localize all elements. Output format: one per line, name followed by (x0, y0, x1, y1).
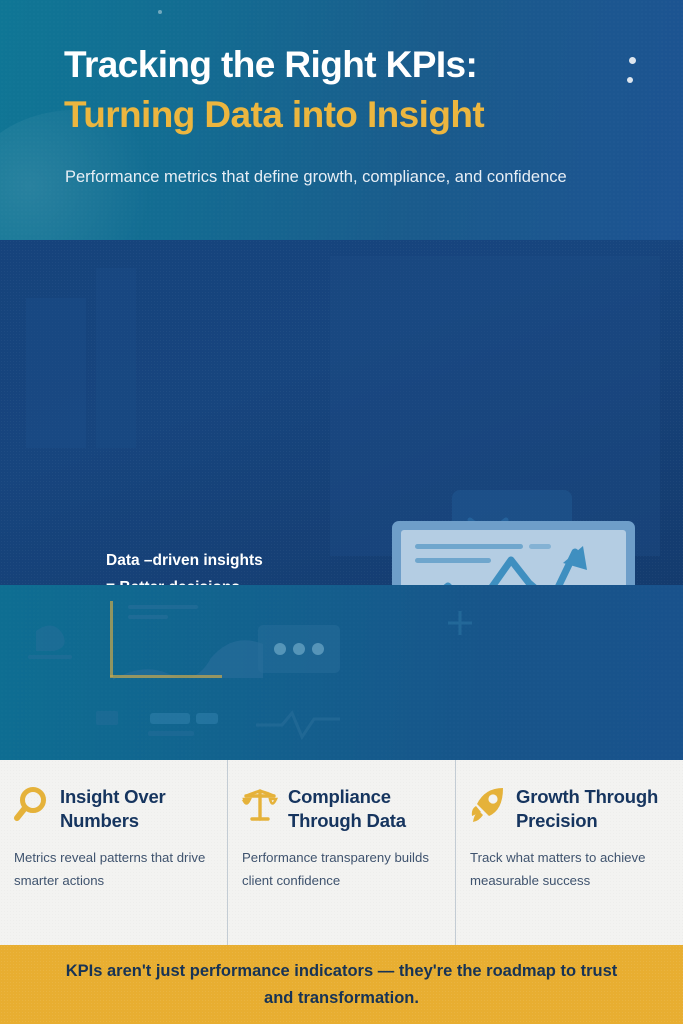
feature-body-3: Track what matters to achieve measurable… (470, 847, 669, 892)
page-subtitle: Performance metrics that define growth, … (65, 164, 637, 191)
feature-body-1: Metrics reveal patterns that drive smart… (14, 847, 213, 892)
magnifier-icon (14, 785, 50, 825)
scales-icon (242, 785, 278, 825)
features-band: Insight Over Numbers Metrics reveal patt… (0, 760, 683, 945)
footer-banner: KPIs aren't just performance indicators … (0, 945, 683, 1024)
feature-heading-3: Growth Through Precision (470, 785, 669, 834)
title-line-1: Tracking the Right KPIs: (64, 40, 654, 90)
footer-text: KPIs aren't just performance indicators … (62, 958, 622, 1011)
feature-title-2: Compliance Through Data (288, 785, 441, 834)
illustration-band: Data –driven insights = Better decisions (0, 240, 683, 585)
feature-card-growth[interactable]: Growth Through Precision Track what matt… (455, 760, 683, 945)
feature-heading-1: Insight Over Numbers (14, 785, 213, 834)
feature-heading-2: Compliance Through Data (242, 785, 441, 834)
quote-background-decor (0, 585, 683, 760)
callout-line-1: Data –driven insights (106, 548, 336, 575)
presentation-screen (392, 521, 635, 585)
infographic-page: Tracking the Right KPIs: Turning Data in… (0, 0, 683, 1024)
feature-title-1: Insight Over Numbers (60, 785, 213, 834)
quote-band: In debt recovery, numbers tell the story… (0, 585, 683, 760)
page-title: Tracking the Right KPIs: Turning Data in… (64, 40, 654, 141)
title-line-2: Turning Data into Insight (64, 90, 654, 140)
presentation-line-chart (401, 530, 626, 585)
feature-title-3: Growth Through Precision (516, 785, 669, 834)
features-columns: Insight Over Numbers Metrics reveal patt… (0, 760, 683, 945)
feature-card-insight[interactable]: Insight Over Numbers Metrics reveal patt… (0, 760, 227, 945)
feature-card-compliance[interactable]: Compliance Through Data Performance tran… (227, 760, 455, 945)
header-dot-3 (158, 10, 162, 14)
feature-body-2: Performance transpareny builds client co… (242, 847, 441, 892)
rocket-icon (470, 785, 506, 825)
presentation-screen-inner (401, 530, 626, 585)
header-band: Tracking the Right KPIs: Turning Data in… (0, 0, 683, 240)
illustration-callout: Data –driven insights = Better decisions (106, 548, 336, 585)
callout-line-2: = Better decisions (106, 575, 336, 585)
